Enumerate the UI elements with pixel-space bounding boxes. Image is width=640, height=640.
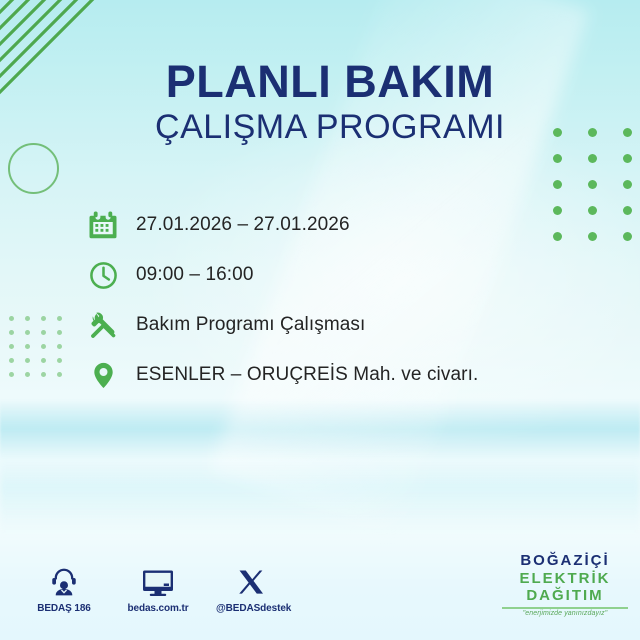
contact-phone-label: BEDAŞ 186 <box>28 603 100 614</box>
contact-phone[interactable]: BEDAŞ 186 <box>28 564 100 614</box>
page-subtitle: ÇALIŞMA PROGRAMI <box>120 109 540 146</box>
diagonal-stripes-decoration <box>0 0 122 106</box>
footer-contacts: BEDAŞ 186 bedas.com.tr @BEDASdestek <box>28 564 288 614</box>
circle-outline-decoration <box>8 143 59 194</box>
page-title: PLANLI BAKIM <box>120 58 540 105</box>
outage-info-list: 27.01.2026 – 27.01.2026 09:00 – 16:00 <box>86 200 586 400</box>
contact-social-x-label: @BEDASdestek <box>216 603 288 614</box>
x-twitter-icon <box>216 564 288 598</box>
brand-line-bogazici: BOĞAZİÇİ <box>502 552 628 570</box>
calendar-icon <box>86 208 120 242</box>
outage-location: ESENLER – ORUÇREİS Mah. ve civarı. <box>136 364 478 386</box>
contact-social-x[interactable]: @BEDASdestek <box>216 564 288 614</box>
background-wave-lower <box>0 455 640 535</box>
dot-grid-left-decoration <box>9 316 61 374</box>
poster-canvas: PLANLI BAKIM ÇALIŞMA PROGRAMI <box>0 0 640 640</box>
info-row-worktype: Bakım Programı Çalışması <box>86 300 586 350</box>
outage-time-range: 09:00 – 16:00 <box>136 264 254 286</box>
info-row-date: 27.01.2026 – 27.01.2026 <box>86 200 586 250</box>
contact-website-label: bedas.com.tr <box>122 603 194 614</box>
poster-title-block: PLANLI BAKIM ÇALIŞMA PROGRAMI <box>120 58 540 147</box>
brand-line-dagitim: DAĞITIM <box>502 587 628 605</box>
contact-website[interactable]: bedas.com.tr <box>122 564 194 614</box>
info-row-time: 09:00 – 16:00 <box>86 250 586 300</box>
clock-icon <box>86 258 120 292</box>
brand-logo: BOĞAZİÇİ ELEKTRİK DAĞITIM "enerjimizde y… <box>502 552 628 617</box>
headset-support-icon <box>28 564 100 598</box>
outage-work-type: Bakım Programı Çalışması <box>136 314 365 336</box>
tools-icon <box>86 308 120 342</box>
monitor-icon <box>122 564 194 598</box>
brand-line-elektrik: ELEKTRİK <box>502 570 628 588</box>
outage-date-range: 27.01.2026 – 27.01.2026 <box>136 214 350 236</box>
location-pin-icon <box>86 358 120 392</box>
info-row-location: ESENLER – ORUÇREİS Mah. ve civarı. <box>86 350 586 400</box>
brand-tagline: "enerjimizde yanınızdayız" <box>502 610 628 617</box>
background-wave-upper <box>0 400 640 460</box>
brand-divider <box>502 607 628 609</box>
